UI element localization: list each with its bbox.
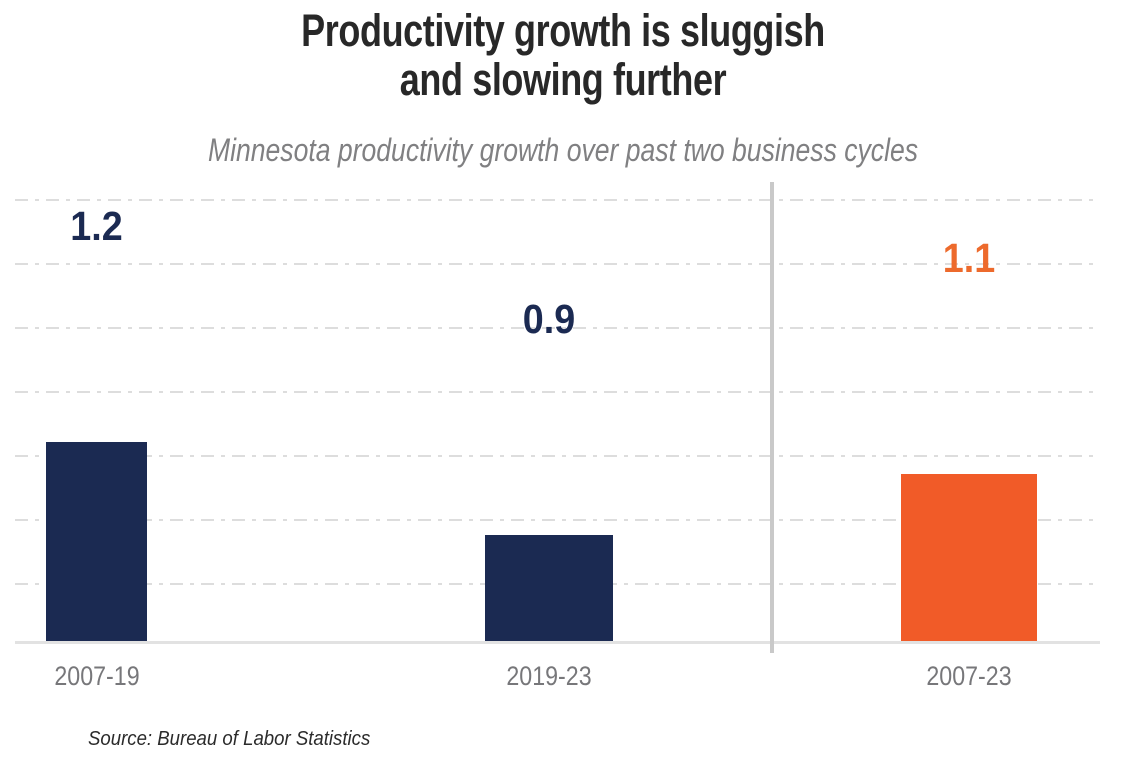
gridline-1-4 [15,199,1100,201]
chart-subtitle: Minnesota productivity growth over past … [96,130,1031,170]
chart-title: Productivity growth is sluggish and slow… [0,6,1126,104]
source-note: Source: Bureau of Labor Statistics [88,727,370,751]
chart-canvas: Productivity growth is sluggish and slow… [0,0,1126,759]
cycle-divider [770,182,774,653]
gridline-0-8 [15,391,1100,393]
chart-title-line-1: Productivity growth is sluggish [113,6,1014,55]
chart-title-line-2: and slowing further [113,55,1014,104]
bar-2019-23 [485,535,613,641]
bar-2007-19 [46,442,147,641]
x-axis-label-2007-23: 2007-23 [905,661,1034,691]
x-axis-line [15,641,1100,644]
bar-value-label-2007-23: 1.1 [906,238,1031,279]
x-axis-label-2007-19: 2007-19 [33,661,162,691]
bar-value-label-2019-23: 0.9 [490,299,608,340]
bar-2007-23 [901,474,1037,641]
bar-value-label-2007-19: 1.2 [50,206,143,247]
gridline-0-6 [15,455,1100,457]
x-axis-label-2019-23: 2019-23 [485,661,614,691]
